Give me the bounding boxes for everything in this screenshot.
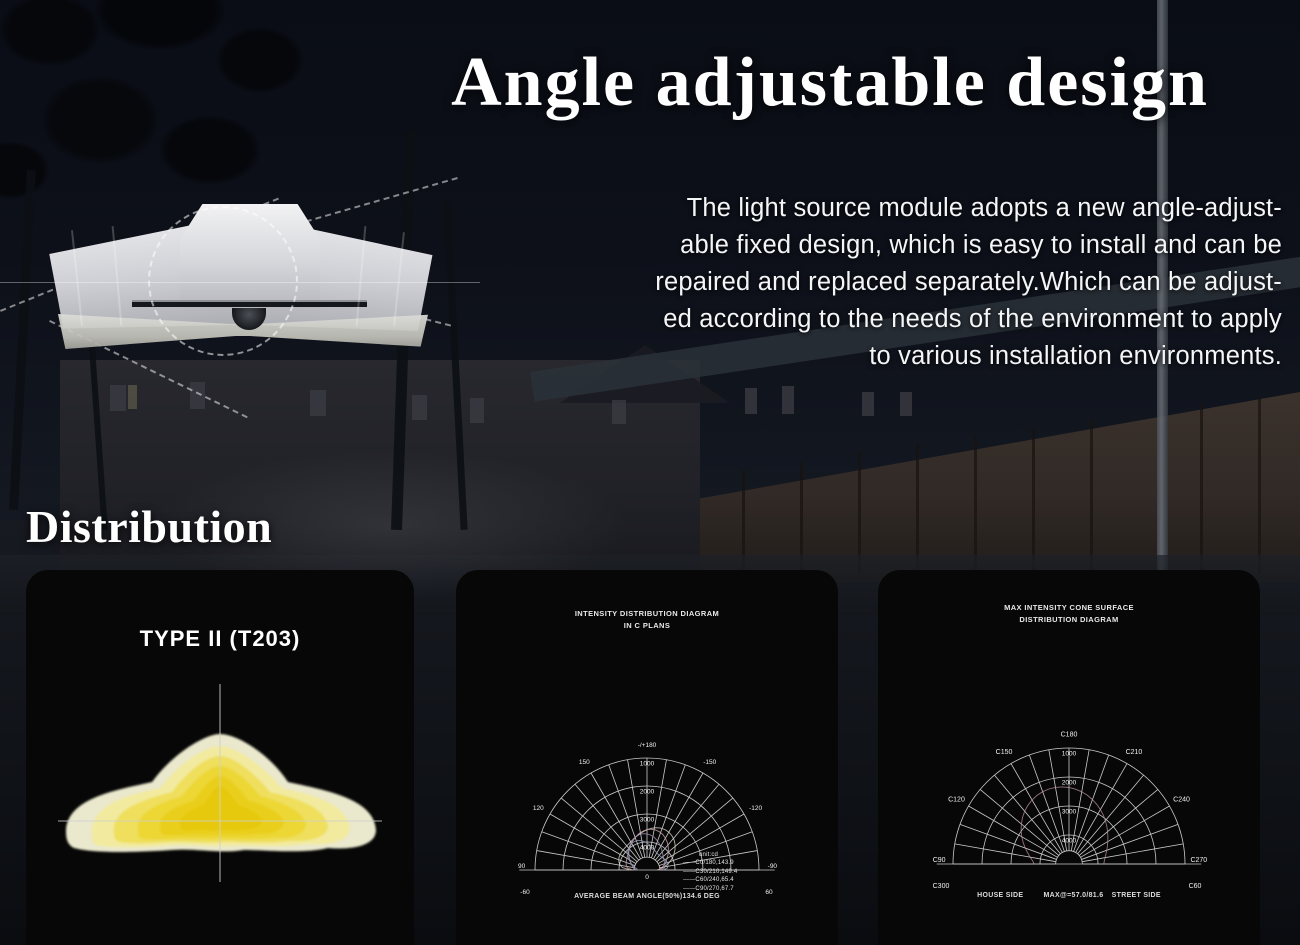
- paragraph-line: able fixed design, which is easy to inst…: [556, 227, 1282, 264]
- window: [412, 395, 427, 420]
- window: [745, 388, 757, 414]
- card3-title: MAX INTENSITY CONE SURFACE DISTRIBUTION …: [878, 602, 1260, 626]
- svg-text:120: 120: [533, 805, 544, 812]
- svg-text:C120: C120: [948, 797, 965, 804]
- svg-text:C270: C270: [1190, 857, 1207, 864]
- caption-street-side: STREET SIDE: [1112, 892, 1161, 899]
- window: [900, 392, 912, 416]
- cone-polar-chart: C180C210C150C240C120C270C90C300C60C330C3…: [899, 632, 1239, 894]
- isolux-svg: [56, 678, 384, 888]
- window: [782, 386, 794, 414]
- description-paragraph: The light source module adopts a new ang…: [556, 190, 1282, 375]
- facade-mullion: [1032, 428, 1035, 574]
- card-type-ii-isolux: TYPE II (T203): [26, 570, 414, 945]
- svg-text:90: 90: [518, 863, 526, 870]
- window: [862, 392, 874, 416]
- luminaire-product-image: [20, 190, 460, 370]
- svg-text:3000: 3000: [1062, 809, 1077, 816]
- isolux-contour-chart: [56, 678, 384, 888]
- svg-text:C90: C90: [933, 857, 946, 864]
- svg-text:4000: 4000: [1062, 838, 1077, 845]
- svg-text:2000: 2000: [1062, 780, 1077, 787]
- svg-text:3000: 3000: [640, 817, 655, 824]
- svg-text:1000: 1000: [640, 761, 655, 768]
- svg-text:C60: C60: [1189, 883, 1202, 890]
- paragraph-line: ed according to the needs of the environ…: [556, 301, 1282, 338]
- card2-caption: AVERAGE BEAM ANGLE(50%)134.6 DEG: [456, 893, 838, 900]
- card3-title-line-1: MAX INTENSITY CONE SURFACE: [878, 602, 1260, 614]
- facade-mullion: [1090, 420, 1093, 574]
- caption-house-side: HOUSE SIDE: [977, 892, 1023, 899]
- card3-title-line-2: DISTRIBUTION DIAGRAM: [878, 614, 1260, 626]
- legend-item: ——C30/210,149.4: [683, 868, 737, 877]
- window: [470, 398, 484, 423]
- page-title: Angle adjustable design: [380, 48, 1280, 118]
- legend-item-label: C60/240,65.4: [695, 877, 733, 883]
- svg-text:-150: -150: [703, 759, 716, 766]
- card-max-intensity-cone: MAX INTENSITY CONE SURFACE DISTRIBUTION …: [878, 570, 1260, 945]
- card-intensity-distribution: INTENSITY DISTRIBUTION DIAGRAM IN C PLAN…: [456, 570, 838, 945]
- legend-item: ——C90/270,67.7: [683, 885, 737, 894]
- window: [612, 400, 626, 424]
- intensity-polar-chart: -/+180-150150-120120-9090-6060-3030 4000…: [477, 642, 817, 897]
- paragraph-line: to various installation environments.: [556, 338, 1282, 375]
- window: [110, 385, 126, 411]
- facade-mullion: [974, 436, 977, 574]
- window: [310, 390, 326, 416]
- svg-text:-120: -120: [749, 805, 762, 812]
- svg-text:-90: -90: [768, 863, 778, 870]
- legend-item-label: C0/180,143.9: [695, 860, 733, 866]
- svg-text:C180: C180: [1061, 732, 1078, 739]
- section-heading-distribution: Distribution: [26, 500, 272, 553]
- paragraph-line: repaired and replaced separately.Which c…: [556, 264, 1282, 301]
- card1-title: TYPE II (T203): [26, 626, 414, 652]
- svg-text:0: 0: [645, 874, 649, 881]
- legend-item: ——C60/240,65.4: [683, 876, 737, 885]
- card3-caption: HOUSE SIDE MAX@=57.0/81.6 STREET SIDE: [878, 892, 1260, 899]
- svg-text:-/+180: -/+180: [638, 742, 657, 749]
- legend-item-label: C90/270,67.7: [695, 886, 733, 892]
- svg-text:1000: 1000: [1062, 751, 1077, 758]
- intensity-legend: unit:cd ——C0/180,143.9 ——C30/210,149.4 —…: [683, 851, 737, 894]
- svg-text:4000: 4000: [640, 845, 655, 852]
- paragraph-line: The light source module adopts a new ang…: [556, 190, 1282, 227]
- svg-text:2000: 2000: [640, 789, 655, 796]
- card2-title-line-2: IN C PLANS: [456, 620, 838, 632]
- facade-mullion: [1200, 404, 1203, 574]
- axis-guide: [0, 282, 480, 283]
- card2-title: INTENSITY DISTRIBUTION DIAGRAM IN C PLAN…: [456, 608, 838, 632]
- legend-item: ——C0/180,143.9: [683, 859, 737, 868]
- window: [128, 385, 137, 409]
- legend-item-label: C30/210,149.4: [695, 869, 737, 875]
- svg-text:C300: C300: [933, 883, 950, 890]
- svg-text:C150: C150: [996, 749, 1013, 756]
- card2-title-line-1: INTENSITY DISTRIBUTION DIAGRAM: [456, 608, 838, 620]
- svg-text:C210: C210: [1126, 749, 1143, 756]
- caption-max-intensity: MAX@=57.0/81.6: [1044, 892, 1104, 899]
- facade-mullion: [1258, 396, 1261, 574]
- rotation-guide-circle: [148, 206, 298, 356]
- svg-text:150: 150: [579, 759, 590, 766]
- svg-text:C240: C240: [1173, 797, 1190, 804]
- legend-unit: unit:cd: [683, 851, 737, 860]
